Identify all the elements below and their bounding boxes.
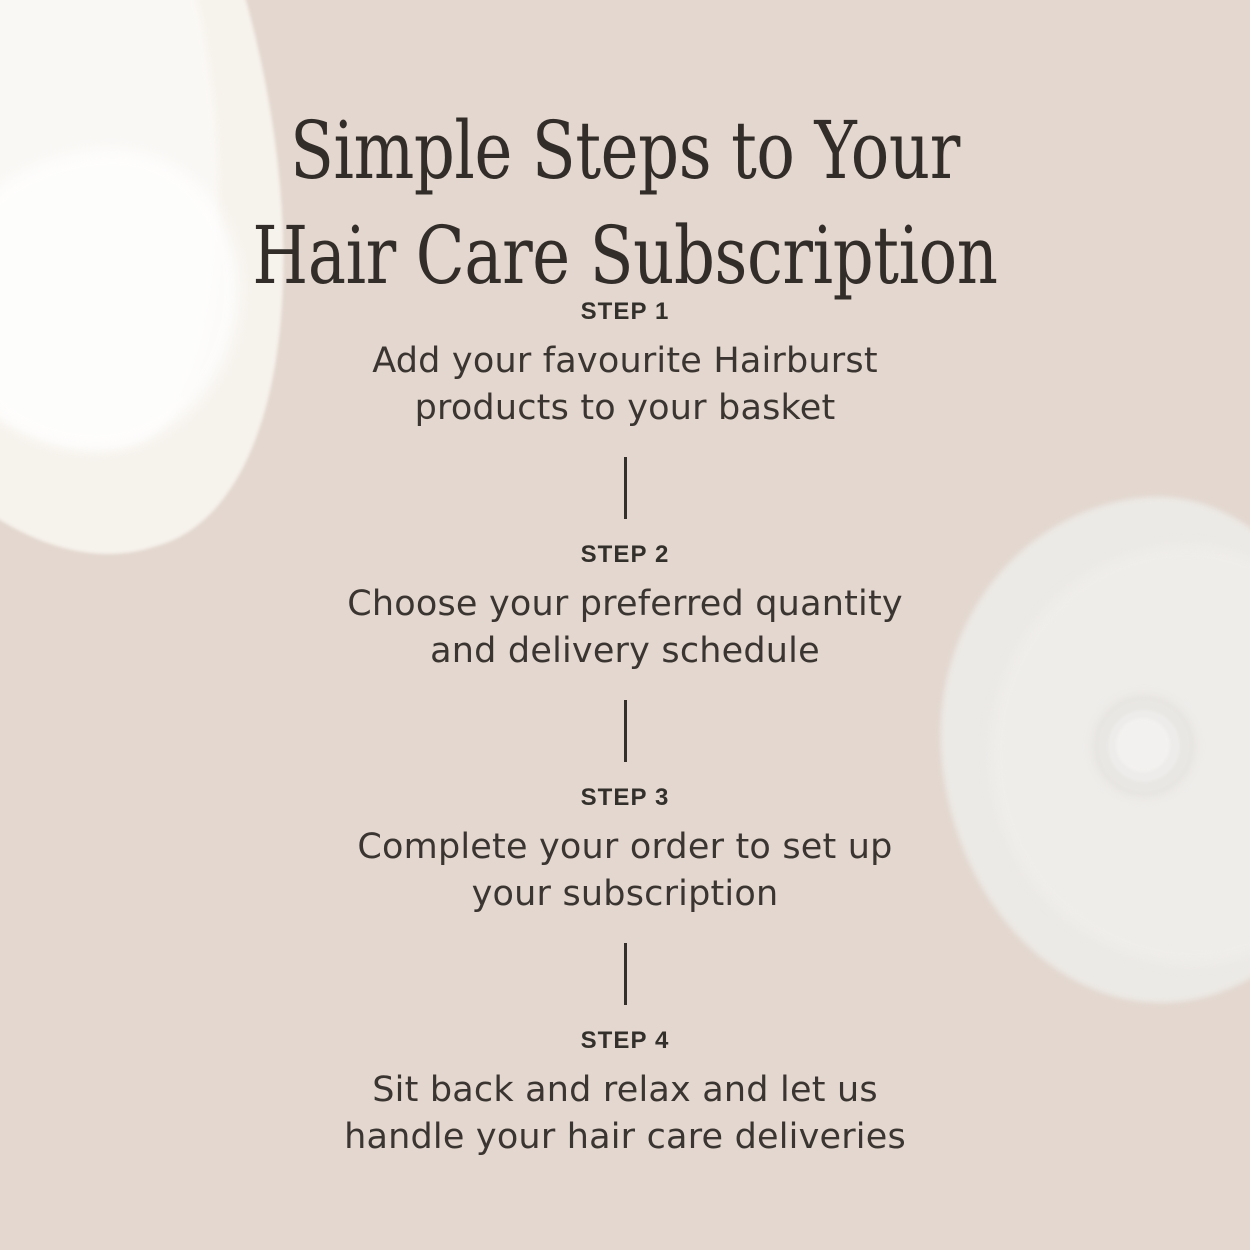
step-item-1: STEP 1 Add your favourite Hairburst prod… — [0, 300, 1250, 431]
page-title-line-2: Hair Care Subscription — [125, 203, 1125, 309]
step-connector-1-2 — [624, 457, 627, 519]
step-description-3-line-1: Complete your order to set up — [0, 824, 1250, 871]
step-description-1-line-2: products to your basket — [0, 385, 1250, 432]
page-title: Simple Steps to Your Hair Care Subscript… — [125, 98, 1125, 309]
step-label-1: STEP 1 — [0, 300, 1250, 324]
step-label-2: STEP 2 — [0, 543, 1250, 567]
step-label-4: STEP 4 — [0, 1029, 1250, 1053]
step-description-1: Add your favourite Hairburst products to… — [0, 338, 1250, 431]
step-item-2: STEP 2 Choose your preferred quantity an… — [0, 543, 1250, 674]
step-item-3: STEP 3 Complete your order to set up you… — [0, 786, 1250, 917]
step-description-4: Sit back and relax and let us handle you… — [0, 1067, 1250, 1160]
step-connector-2-3 — [624, 700, 627, 762]
step-description-3-line-2: your subscription — [0, 871, 1250, 918]
steps-list: STEP 1 Add your favourite Hairburst prod… — [0, 300, 1250, 1160]
step-description-3: Complete your order to set up your subsc… — [0, 824, 1250, 917]
step-description-4-line-2: handle your hair care deliveries — [0, 1114, 1250, 1161]
step-description-2-line-1: Choose your preferred quantity — [0, 581, 1250, 628]
step-description-2-line-2: and delivery schedule — [0, 628, 1250, 675]
poster-canvas: Simple Steps to Your Hair Care Subscript… — [0, 0, 1250, 1250]
step-description-1-line-1: Add your favourite Hairburst — [0, 338, 1250, 385]
step-item-4: STEP 4 Sit back and relax and let us han… — [0, 1029, 1250, 1160]
step-description-2: Choose your preferred quantity and deliv… — [0, 581, 1250, 674]
page-title-line-1: Simple Steps to Your — [125, 98, 1125, 204]
step-label-3: STEP 3 — [0, 786, 1250, 810]
step-connector-3-4 — [624, 943, 627, 1005]
step-description-4-line-1: Sit back and relax and let us — [0, 1067, 1250, 1114]
